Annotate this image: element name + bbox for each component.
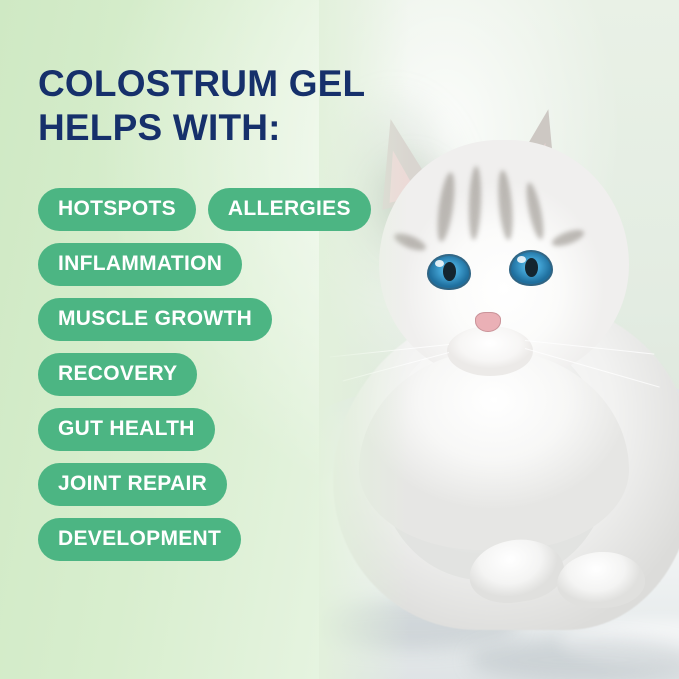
benefit-row: HOTSPOTS ALLERGIES: [38, 188, 418, 231]
cat-eye-pupil: [525, 258, 538, 277]
benefit-row: JOINT REPAIR: [38, 463, 418, 506]
headline-line-2: HELPS WITH:: [38, 106, 408, 150]
benefit-pill-recovery: RECOVERY: [38, 353, 197, 396]
benefit-pill-joint-repair: JOINT REPAIR: [38, 463, 227, 506]
benefit-pill-allergies: ALLERGIES: [208, 188, 371, 231]
headline-line-1: COLOSTRUM GEL: [38, 62, 408, 106]
text-content: COLOSTRUM GEL HELPS WITH: HOTSPOTS ALLER…: [0, 0, 420, 679]
cat-right-eye: [509, 250, 553, 286]
benefit-pill-muscle-growth: MUSCLE GROWTH: [38, 298, 272, 341]
cat-muzzle: [447, 326, 533, 376]
benefit-pill-gut-health: GUT HEALTH: [38, 408, 215, 451]
benefit-row: GUT HEALTH: [38, 408, 418, 451]
benefit-row: DEVELOPMENT: [38, 518, 418, 561]
benefit-pill-inflammation: INFLAMMATION: [38, 243, 242, 286]
benefit-row: RECOVERY: [38, 353, 418, 396]
cat-eye-glint: [517, 256, 526, 263]
photo-bed-shadow: [469, 638, 679, 679]
marketing-graphic: COLOSTRUM GEL HELPS WITH: HOTSPOTS ALLER…: [0, 0, 679, 679]
cat-eye-pupil: [443, 262, 456, 281]
benefits-list: HOTSPOTS ALLERGIES INFLAMMATION MUSCLE G…: [38, 188, 418, 573]
page-title: COLOSTRUM GEL HELPS WITH:: [38, 62, 408, 149]
benefit-row: INFLAMMATION: [38, 243, 418, 286]
benefit-row: MUSCLE GROWTH: [38, 298, 418, 341]
cat-eye-glint: [435, 260, 444, 267]
benefit-pill-development: DEVELOPMENT: [38, 518, 241, 561]
benefit-pill-hotspots: HOTSPOTS: [38, 188, 196, 231]
cat-left-eye: [427, 254, 471, 290]
